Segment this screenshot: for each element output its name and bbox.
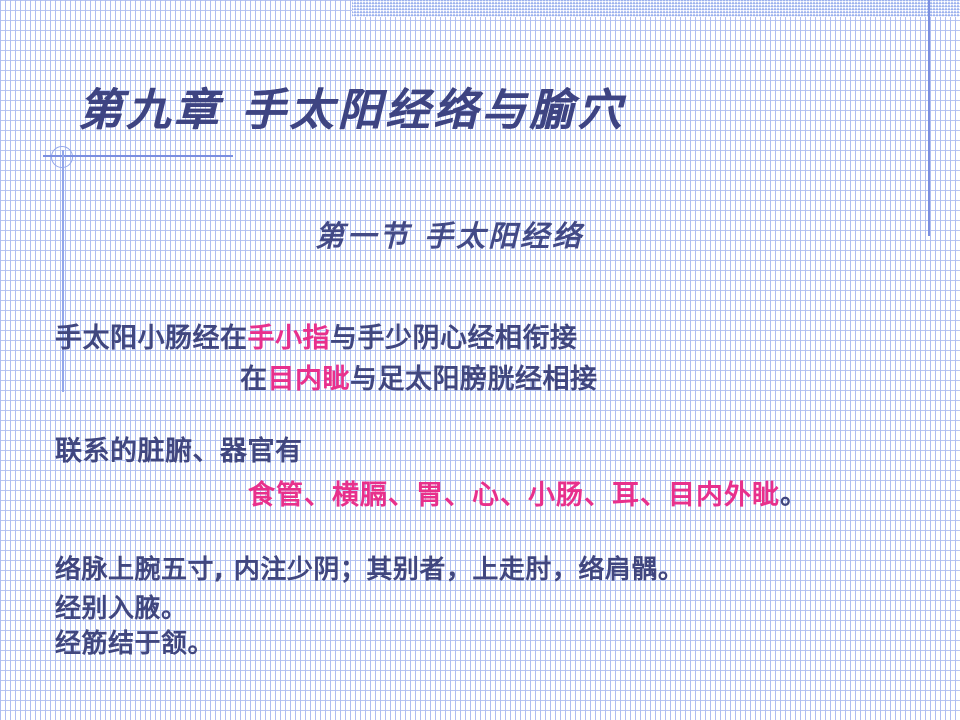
- right-accent-rule: [928, 0, 930, 236]
- slide-subtitle: 第一节 手太阳经络: [315, 213, 584, 255]
- body-line-7: 经筋结于颔。: [55, 623, 214, 660]
- body-line-6: 经别入腋。: [55, 588, 188, 625]
- slide-title: 第九章 手太阳经络与腧穴: [78, 74, 625, 138]
- body-line-5: 络脉上腕五寸, 内注少阴；其别者，上走肘，络肩髃。: [55, 549, 684, 586]
- left-horizontal-accent-rule: [43, 155, 233, 157]
- body-line-1: 手太阳小肠经在手小指与手少阴心经相衔接: [55, 316, 578, 355]
- top-crosshatch-band: [352, 0, 960, 17]
- body-line-4: 食管、横膈、胃、心、小肠、耳、目内外眦。: [248, 473, 808, 512]
- body-line-2-text-b: 与足太阳膀胱经相接: [350, 364, 598, 395]
- body-line-2-text-a: 在: [240, 364, 268, 395]
- body-line-1-text-b: 与手少阴心经相衔接: [330, 323, 578, 354]
- body-line-4-highlight: 食管、横膈、胃、心、小肠、耳、目内外眦: [248, 480, 780, 511]
- left-vertical-accent-rule: [62, 150, 64, 392]
- body-line-2-highlight: 目内眦: [268, 364, 351, 395]
- body-line-3: 联系的脏腑、器官有: [55, 429, 303, 468]
- slide-canvas: 第九章 手太阳经络与腧穴 第一节 手太阳经络 手太阳小肠经在手小指与手少阴心经相…: [0, 0, 960, 720]
- body-line-1-highlight: 手小指: [248, 323, 331, 354]
- body-line-1-text-a: 手太阳小肠经在: [55, 323, 248, 354]
- body-line-2: 在目内眦与足太阳膀胱经相接: [240, 357, 598, 396]
- body-line-4-tail: 。: [780, 480, 808, 511]
